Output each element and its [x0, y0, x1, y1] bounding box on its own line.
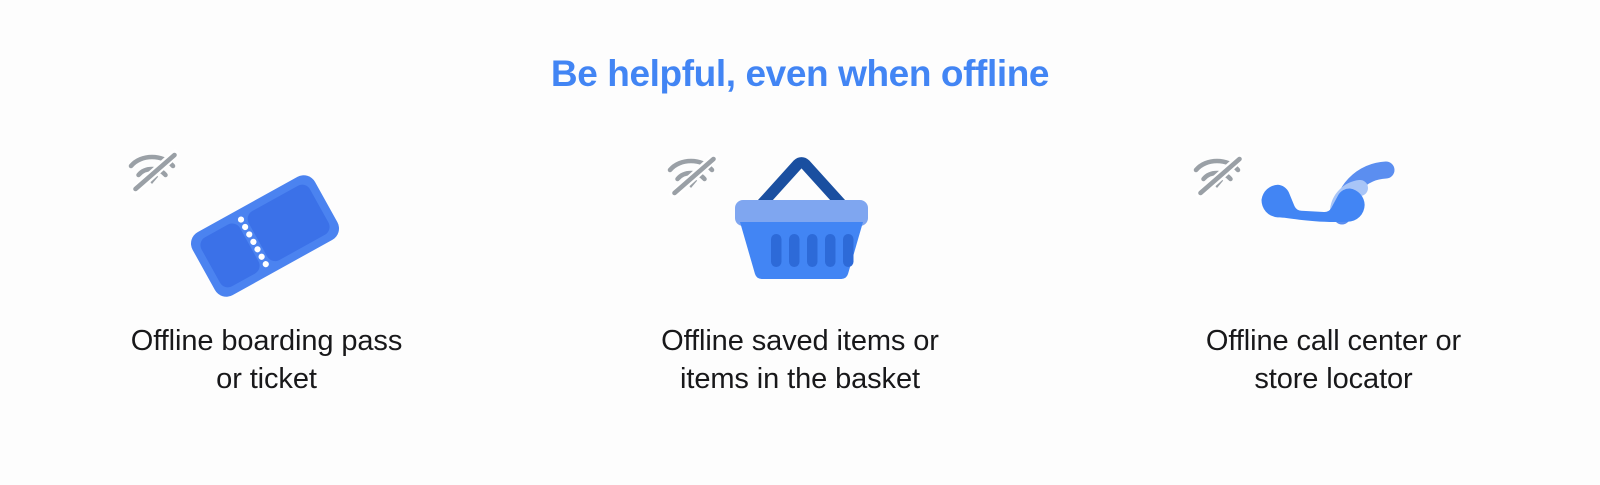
caption-line-1: Offline saved items or	[661, 322, 939, 360]
caption-line-2: items in the basket	[661, 360, 939, 398]
feature-columns: Offline boarding pass or ticket	[0, 140, 1600, 399]
ticket-icon	[185, 166, 345, 306]
wifi-off-icon	[1190, 152, 1250, 204]
caption-line-2: store locator	[1206, 360, 1461, 398]
feature-column-saved-items: Offline saved items or items in the bask…	[534, 140, 1067, 399]
caption-line-1: Offline boarding pass	[131, 322, 402, 360]
icon-area-call-center	[1184, 140, 1484, 310]
caption-call-center: Offline call center or store locator	[1206, 322, 1461, 399]
wifi-off-icon	[664, 152, 724, 204]
offline-features-slide: Be helpful, even when offline	[0, 0, 1600, 485]
shopping-basket-icon	[726, 148, 876, 288]
caption-line-1: Offline call center or	[1206, 322, 1461, 360]
caption-saved-items: Offline saved items or items in the bask…	[661, 322, 939, 399]
caption-line-2: or ticket	[131, 360, 402, 398]
feature-column-boarding-pass: Offline boarding pass or ticket	[0, 140, 533, 399]
icon-area-saved-items	[650, 140, 950, 310]
caption-boarding-pass: Offline boarding pass or ticket	[131, 322, 402, 399]
icon-area-boarding-pass	[117, 140, 417, 310]
wifi-off-icon	[125, 148, 185, 200]
page-title: Be helpful, even when offline	[0, 52, 1600, 96]
phone-call-icon	[1256, 144, 1411, 294]
feature-column-call-center: Offline call center or store locator	[1067, 140, 1600, 399]
